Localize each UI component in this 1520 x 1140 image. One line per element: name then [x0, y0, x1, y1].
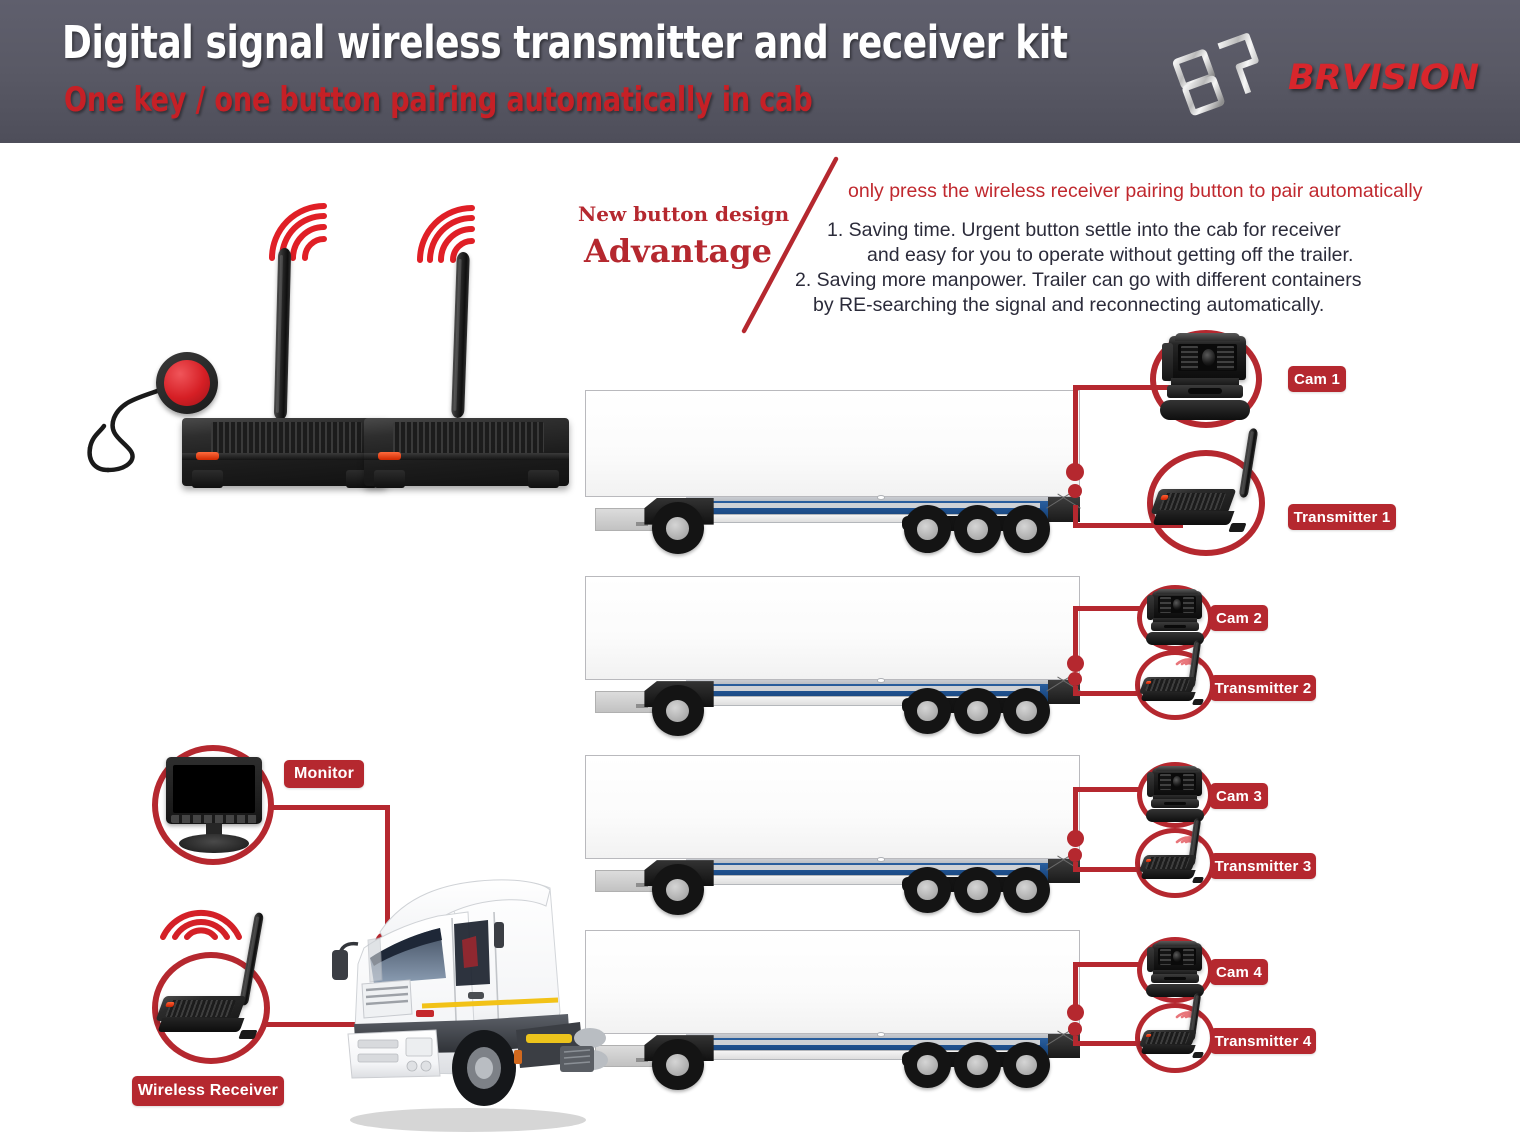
wire-segment [1073, 787, 1141, 792]
wire-segment [1073, 691, 1141, 696]
brand-name: BRVISION [1288, 58, 1479, 98]
connection-dot [1068, 484, 1082, 498]
connection-dot [1068, 848, 1082, 862]
antenna-icon [451, 252, 470, 418]
transmitter-icon [1142, 1022, 1204, 1064]
semi-trailer-icon [585, 755, 1080, 899]
advantage-point: and easy for you to operate without gett… [795, 243, 1395, 268]
wire-segment [1073, 867, 1141, 872]
advantage-point: 2. Saving more manpower. Trailer can go … [795, 268, 1395, 293]
truck-cab-icon [318, 862, 618, 1140]
poster-canvas: Digital signal wireless transmitter and … [0, 0, 1520, 1140]
device-pair-photo [72, 196, 562, 506]
transmitter-unit-icon [364, 418, 569, 486]
brvision-logo-icon [1170, 26, 1290, 118]
brand-logo: BRVISION [1170, 22, 1500, 122]
wireless-receiver-icon [160, 985, 258, 1047]
wire-segment [1073, 962, 1078, 1010]
antenna-icon [274, 248, 291, 420]
red-emergency-button-icon[interactable] [156, 352, 218, 414]
page-subtitle: One key / one button pairing automatical… [64, 80, 812, 120]
wire-segment [1073, 1041, 1141, 1046]
label-badge-cam: Cam 1 [1288, 366, 1346, 392]
page-header: Digital signal wireless transmitter and … [0, 0, 1520, 143]
backup-camera-icon [1146, 768, 1204, 822]
wifi-signal-icon [412, 202, 482, 264]
label-badge-cam: Cam 2 [1210, 605, 1268, 631]
wire-segment [1073, 606, 1078, 661]
label-badge-transmitter: Transmitter 2 [1210, 675, 1316, 701]
transmitter-icon [1155, 478, 1247, 540]
connection-dot [1066, 463, 1084, 481]
monitor-icon [166, 757, 262, 853]
label-badge-transmitter: Transmitter 1 [1288, 504, 1396, 530]
backup-camera-icon [1160, 336, 1250, 420]
backup-camera-icon [1146, 943, 1204, 997]
transmitter-icon [1142, 669, 1204, 711]
advantage-callout: only press the wireless receiver pairing… [848, 180, 1422, 203]
advantage-point: by RE-searching the signal and reconnect… [795, 293, 1395, 318]
connection-dot [1068, 1022, 1082, 1036]
connection-dot [1067, 655, 1084, 672]
label-badge-cam: Cam 4 [1210, 959, 1268, 985]
backup-camera-icon [1146, 591, 1204, 645]
page-title: Digital signal wireless transmitter and … [62, 16, 1068, 69]
receiver-unit-with-button-icon [182, 418, 387, 486]
wifi-signal-icon [264, 200, 334, 262]
wire-segment [1073, 385, 1078, 470]
wire-segment [1073, 962, 1141, 967]
label-badge-monitor: Monitor [284, 760, 364, 788]
advantage-points: 1. Saving time. Urgent button settle int… [795, 218, 1395, 318]
connection-dot [1067, 1004, 1084, 1021]
connection-dot [1067, 830, 1084, 847]
semi-trailer-icon [585, 930, 1080, 1074]
label-badge-wireless-receiver: Wireless Receiver [132, 1076, 284, 1106]
semi-trailer-icon [585, 390, 1080, 538]
wifi-signal-icon [158, 893, 244, 941]
label-badge-transmitter: Transmitter 3 [1210, 853, 1316, 879]
advantage-point: 1. Saving time. Urgent button settle int… [795, 218, 1395, 243]
label-badge-transmitter: Transmitter 4 [1210, 1028, 1316, 1054]
transmitter-icon [1142, 847, 1204, 889]
wire-segment [1073, 606, 1141, 611]
label-badge-cam: Cam 3 [1210, 783, 1268, 809]
connection-dot [1068, 672, 1082, 686]
semi-trailer-icon [585, 576, 1080, 720]
wire-segment [272, 805, 390, 810]
